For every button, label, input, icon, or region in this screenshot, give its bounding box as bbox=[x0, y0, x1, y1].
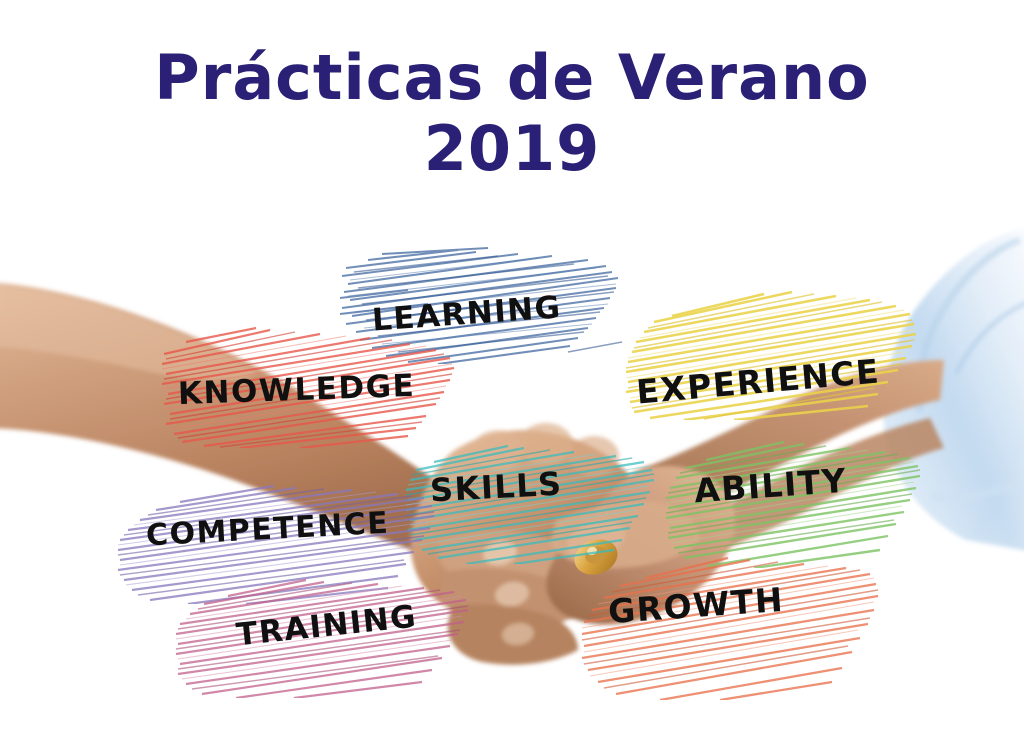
keyword-skills: SKILLS bbox=[429, 465, 563, 510]
poster-canvas: LEARNING KNOWLEDGE EXPERIENCE SKILLS ABI… bbox=[0, 0, 1024, 747]
